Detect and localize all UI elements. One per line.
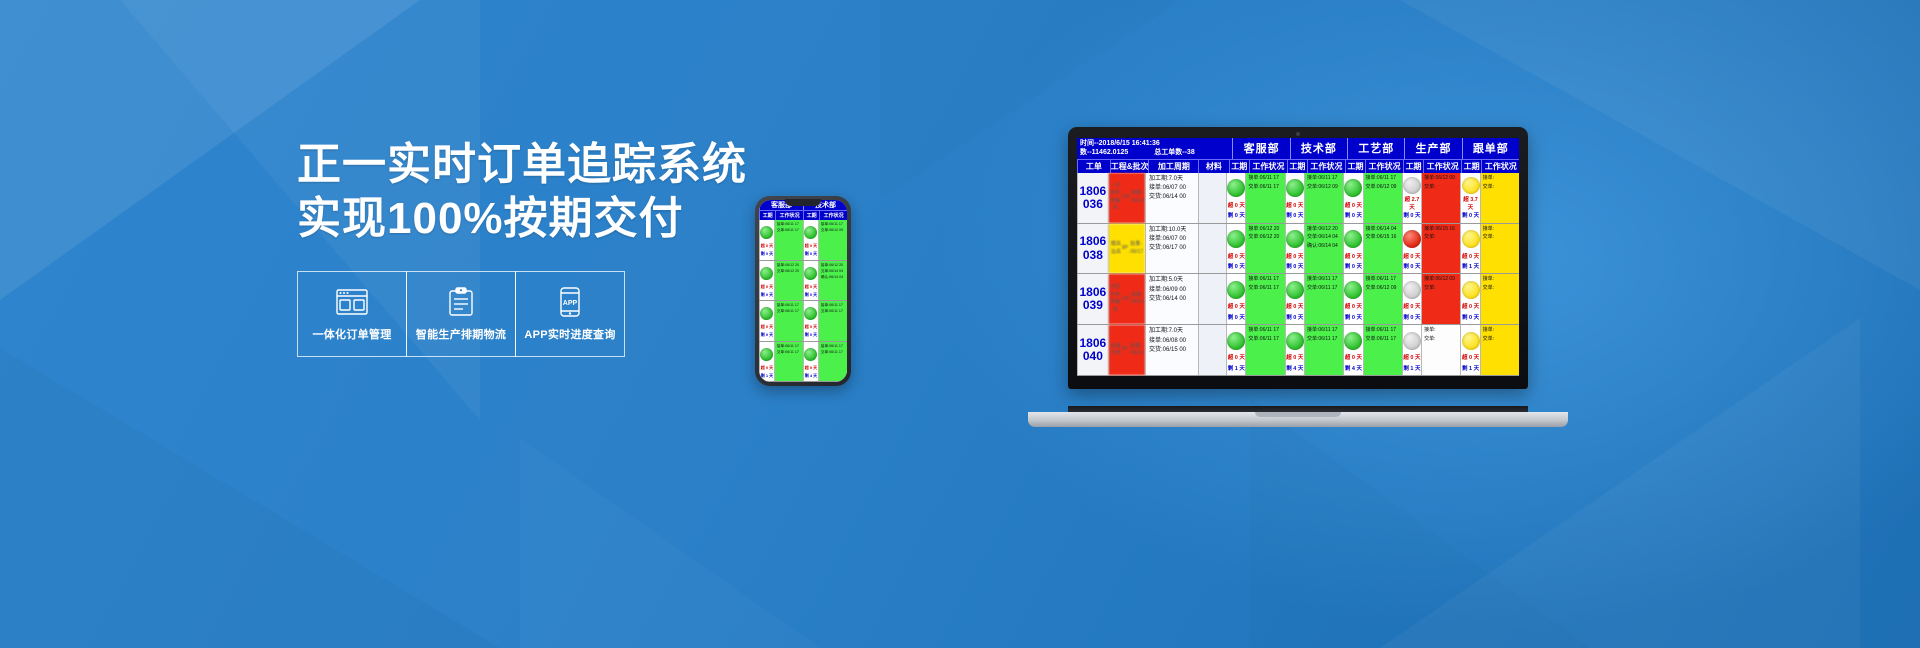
laptop-base <box>1028 412 1568 427</box>
cell-客服部-work-status[interactable]: 接单:06/11 17交单:06/11 17 <box>1245 274 1284 324</box>
phone-erp-board[interactable]: 客服部技术部工期工作状况工期工作状况超 0 天剩 0 天接单:06/11 17交… <box>759 200 847 382</box>
cell-客服部-duration[interactable]: 超 0 天剩 0 天 <box>1226 173 1245 223</box>
cell-技术部-duration[interactable]: 超 0 天剩 0 天 <box>1285 274 1304 324</box>
cell-material[interactable] <box>1198 274 1226 324</box>
hero-headline-line1: 正一实时订单追踪系统 <box>297 138 917 192</box>
over-days-label: 超 2.7 天 <box>1403 196 1421 213</box>
status-dot-green[interactable] <box>804 226 817 239</box>
board-meta: 时间--2018/6/15 16:41:36数--11462.0125总工单数-… <box>1077 138 1232 159</box>
status-dot-green[interactable] <box>1227 332 1245 350</box>
cell-material[interactable] <box>1198 224 1226 274</box>
cell-工艺部-duration[interactable]: 超 0 天剩 0 天 <box>1343 224 1362 274</box>
status-dot-yellow[interactable] <box>1462 281 1480 299</box>
column-header-工艺部-工作状况[interactable]: 工作状况 <box>1365 160 1403 173</box>
over-days-label: 超 0 天 <box>760 243 774 249</box>
over-days-label: 超 0 天 <box>1344 354 1362 362</box>
cell-工艺部-work-status[interactable]: 接单:06/11 17交单:06/12 09 <box>1363 274 1402 324</box>
cell-processing-cycle[interactable]: 加工期:10.0天接单:06/07 00交货:06/17 00 <box>1145 224 1198 274</box>
over-days-label: 超 0 天 <box>1344 303 1362 311</box>
over-days-label: 超 0 天 <box>1286 253 1304 261</box>
over-days-label: 超 0 天 <box>1286 202 1304 210</box>
cell-project-batch[interactable]: 一字板外壳备料12P批量--06/14 <box>1108 173 1145 223</box>
board-meta-datetime: 时间--2018/6/15 16:41:36 <box>1080 139 1229 148</box>
status-dot-yellow[interactable] <box>1462 230 1480 248</box>
status-dot-green[interactable] <box>1227 179 1245 197</box>
cell-生产部-duration[interactable]: 超 0 天剩 0 天 <box>1402 224 1421 274</box>
work-order-bottom: 038 <box>1083 249 1103 262</box>
over-days-label: 超 0 天 <box>1461 303 1479 311</box>
column-header-客服部-工作状况[interactable]: 工作状况 <box>775 211 803 220</box>
cell-客服部-work-status[interactable]: 接单:06/12 20交单:06/12 20 <box>1245 224 1284 274</box>
remaining-days-label: 剩 0 天 <box>1461 212 1479 220</box>
cell-生产部-duration[interactable]: 超 2.7 天剩 0 天 <box>1402 173 1421 223</box>
work-order-bottom: 039 <box>1083 299 1103 312</box>
over-days-label: 超 0 天 <box>760 324 774 330</box>
bg-polygon <box>0 348 500 648</box>
cell-技术部-work-status[interactable]: 接单:06/11 17交单:06/11 17 <box>1304 325 1343 375</box>
status-dot-grey[interactable] <box>1403 177 1421 194</box>
cell-技术部-work-status[interactable]: 接单:06/11 17交单:06/11 17 <box>818 301 847 341</box>
feature-card-app-progress-query[interactable]: APP APP实时进度查询 <box>515 271 625 357</box>
work-order-bottom: 040 <box>1083 350 1103 363</box>
cell-技术部-work-status[interactable]: 接单:06/11 17交单:06/12 09 <box>1304 173 1343 223</box>
column-header-跟单部-工作状况[interactable]: 工作状况 <box>1481 160 1519 173</box>
status-dot-green[interactable] <box>1344 332 1362 350</box>
cell-processing-cycle[interactable]: 加工期:5.0天接单:06/09 00交货:06/14 00 <box>1145 274 1198 324</box>
status-dot-green[interactable] <box>760 226 773 239</box>
status-dot-green[interactable] <box>1344 230 1362 248</box>
remaining-days-label: 剩 4 天 <box>1286 365 1304 373</box>
over-days-label: 超 0 天 <box>1403 354 1421 362</box>
over-days-label: 超 0 天 <box>1286 303 1304 311</box>
remaining-days-label: 剩 4 天 <box>1344 365 1362 373</box>
cell-客服部-work-status[interactable]: 接单:06/11 17交单:06/11 17 <box>1245 173 1284 223</box>
cell-技术部-work-status[interactable]: 接单:06/12 20交单:06/14 04确认:06/14 04 <box>818 261 847 301</box>
cell-工艺部-duration[interactable]: 超 0 天剩 4 天 <box>1343 325 1362 375</box>
table-row[interactable]: 1806039冲压件外壳备料12P批量--06/14加工期:5.0天接单:06/… <box>1077 274 1519 325</box>
column-header-生产部-工期[interactable]: 工期 <box>1403 160 1424 173</box>
status-dot-green[interactable] <box>1344 179 1362 197</box>
cell-processing-cycle[interactable]: 加工期:7.0天接单:06/08 00交货:06/15 00 <box>1145 325 1198 375</box>
feature-card-order-management[interactable]: 一体化订单管理 <box>297 271 407 357</box>
laptop-mockup: 时间--2018/6/15 16:41:36数--11462.0125总工单数-… <box>1028 127 1568 427</box>
column-header-技术部-工作状况[interactable]: 工作状况 <box>1307 160 1345 173</box>
remaining-days-label: 剩 0 天 <box>760 251 774 257</box>
cell-project-batch[interactable]: 前盖外壳6P批量--06/15 <box>1108 325 1145 375</box>
cell-客服部-work-status[interactable]: 接单:06/12 20交单:06/12 20 <box>774 261 803 301</box>
column-header-材料[interactable]: 材料 <box>1198 160 1228 173</box>
remaining-days-label: 剩 0 天 <box>1227 263 1245 271</box>
cell-生产部-work-status[interactable]: 接单:06/12 09交单: <box>1421 173 1460 223</box>
over-days-label: 超 0 天 <box>1461 253 1479 261</box>
cell-work-order[interactable]: 1806039 <box>1077 274 1108 324</box>
remaining-days-label: 剩 1 天 <box>1403 365 1421 373</box>
over-days-label: 超 0 天 <box>1461 354 1479 362</box>
cell-work-order[interactable]: 1806040 <box>1077 325 1108 375</box>
over-days-label: 超 0 天 <box>1227 303 1245 311</box>
department-header-row: 客服部技术部工艺部生产部跟单部 <box>1232 138 1519 159</box>
svg-text:APP: APP <box>563 300 578 307</box>
remaining-days-label: 剩 0 天 <box>1403 212 1421 220</box>
department-header-技术部[interactable]: 技术部 <box>1290 138 1347 159</box>
column-header-row: 工单工程&批次加工周期材料工期工作状况工期工作状况工期工作状况工期工作状况工期工… <box>1077 159 1519 173</box>
work-order-top: 1806 <box>1080 235 1107 248</box>
department-header-工艺部[interactable]: 工艺部 <box>1347 138 1404 159</box>
over-days-label: 超 0 天 <box>760 284 774 290</box>
column-header-客服部-工期[interactable]: 工期 <box>759 211 775 220</box>
column-header-技术部-工期[interactable]: 工期 <box>1287 160 1308 173</box>
over-days-label: 超 0 天 <box>1344 202 1362 210</box>
work-order-bottom: 036 <box>1083 198 1103 211</box>
cell-客服部-duration[interactable]: 超 0 天剩 0 天 <box>759 301 774 341</box>
cell-跟单部-work-status[interactable]: 接单:交单: <box>1480 173 1519 223</box>
cell-客服部-duration[interactable]: 超 0 天剩 0 天 <box>1226 224 1245 274</box>
cell-工艺部-duration[interactable]: 超 0 天剩 0 天 <box>1343 274 1362 324</box>
status-dot-green[interactable] <box>804 307 817 320</box>
department-header-生产部[interactable]: 生产部 <box>1404 138 1461 159</box>
remaining-days-label: 剩 0 天 <box>1344 314 1362 322</box>
feature-card-production-scheduling[interactable]: 智能生产排期物流 <box>406 271 516 357</box>
board-body: 超 0 天剩 0 天接单:06/11 17交单:06/11 17超 0 天剩 0… <box>759 220 847 382</box>
over-days-label: 超 0 天 <box>760 365 774 371</box>
status-dot-green[interactable] <box>1286 179 1304 197</box>
work-order-top: 1806 <box>1080 185 1107 198</box>
over-days-label: 超 3.7 天 <box>1461 196 1479 213</box>
cell-生产部-duration[interactable]: 超 0 天剩 1 天 <box>1402 325 1421 375</box>
status-dot-yellow[interactable] <box>1462 332 1480 350</box>
mobile-app-icon: APP <box>553 287 587 317</box>
table-row[interactable]: 1806036一字板外壳备料12P批量--06/14加工期:7.0天接单:06/… <box>1077 173 1519 224</box>
over-days-label: 超 0 天 <box>1403 253 1421 261</box>
cell-技术部-duration[interactable]: 超 0 天剩 0 天 <box>1285 224 1304 274</box>
cell-技术部-duration[interactable]: 超 0 天剩 0 天 <box>1285 173 1304 223</box>
remaining-days-label: 剩 1 天 <box>1227 365 1245 373</box>
cell-生产部-duration[interactable]: 超 0 天剩 0 天 <box>1402 274 1421 324</box>
cell-processing-cycle[interactable]: 加工期:7.0天接单:06/07 00交货:06/14 00 <box>1145 173 1198 223</box>
cell-生产部-work-status[interactable]: 接单:06/12 09交单: <box>1421 274 1460 324</box>
status-dot-green[interactable] <box>1286 230 1304 248</box>
column-header-跟单部-工期[interactable]: 工期 <box>1461 160 1482 173</box>
cell-客服部-duration[interactable]: 超 0 天剩 0 天 <box>759 220 774 260</box>
feature-label: 智能生产排期物流 <box>416 326 506 342</box>
cell-技术部-work-status[interactable]: 接单:06/12 20交单:06/14 04确认:06/14 04 <box>1304 224 1343 274</box>
remaining-days-label: 剩 1 天 <box>760 373 774 379</box>
bg-polygon <box>520 438 820 648</box>
table-row[interactable]: 超 0 天剩 1 天接单:06/11 17交单:06/11 17超 0 天剩 4… <box>759 342 847 383</box>
cell-跟单部-duration[interactable]: 超 3.7 天剩 0 天 <box>1460 173 1479 223</box>
webcam-icon <box>1296 132 1300 136</box>
remaining-days-label: 剩 0 天 <box>1286 314 1304 322</box>
status-dot-green[interactable] <box>1227 230 1245 248</box>
column-header-客服部-工期[interactable]: 工期 <box>1229 160 1250 173</box>
cell-客服部-duration[interactable]: 超 0 天剩 0 天 <box>759 261 774 301</box>
status-dot-green[interactable] <box>1286 332 1304 350</box>
status-dot-green[interactable] <box>760 348 773 361</box>
cell-project-batch[interactable]: 模具治具8P批量--06/17 <box>1108 224 1145 274</box>
over-days-label: 超 0 天 <box>1286 354 1304 362</box>
cell-技术部-duration[interactable]: 超 0 天剩 0 天 <box>803 261 818 301</box>
phone-screen: 客服部技术部工期工作状况工期工作状况超 0 天剩 0 天接单:06/11 17交… <box>759 200 847 382</box>
bg-polygon <box>1250 398 1590 648</box>
cell-work-order[interactable]: 1806038 <box>1077 224 1108 274</box>
status-dot-green[interactable] <box>760 267 773 280</box>
over-days-label: 超 0 天 <box>804 243 818 249</box>
status-dot-green[interactable] <box>804 348 817 361</box>
cell-工艺部-work-status[interactable]: 接单:06/14 04交单:06/15 16 <box>1363 224 1402 274</box>
remaining-days-label: 剩 0 天 <box>760 292 774 298</box>
cell-跟单部-duration[interactable]: 超 0 天剩 1 天 <box>1460 224 1479 274</box>
remaining-days-label: 剩 0 天 <box>1403 314 1421 322</box>
board-meta-row: 时间--2018/6/15 16:41:36数--11462.0125总工单数-… <box>1077 138 1519 159</box>
remaining-days-label: 剩 1 天 <box>1461 263 1479 271</box>
cell-客服部-work-status[interactable]: 接单:06/11 17交单:06/11 17 <box>774 342 803 382</box>
clipboard-icon <box>444 287 478 317</box>
status-dot-green[interactable] <box>1286 281 1304 299</box>
over-days-label: 超 0 天 <box>804 324 818 330</box>
cell-material[interactable] <box>1198 325 1226 375</box>
remaining-days-label: 剩 1 天 <box>1461 365 1479 373</box>
remaining-days-label: 剩 0 天 <box>804 251 818 257</box>
over-days-label: 超 0 天 <box>1227 253 1245 261</box>
table-row[interactable]: 超 0 天剩 0 天接单:06/11 17交单:06/11 17超 0 天剩 0… <box>759 220 847 261</box>
table-row[interactable]: 1806038模具治具8P批量--06/17加工期:10.0天接单:06/07 … <box>1077 224 1519 275</box>
cell-客服部-work-status[interactable]: 接单:06/11 17交单:06/11 17 <box>774 301 803 341</box>
cell-生产部-work-status[interactable]: 接单:06/15 16交单: <box>1421 224 1460 274</box>
cell-material[interactable] <box>1198 173 1226 223</box>
status-dot-grey[interactable] <box>1403 281 1421 299</box>
column-header-技术部-工作状况[interactable]: 工作状况 <box>819 211 847 220</box>
cell-跟单部-work-status[interactable]: 接单:交单: <box>1480 325 1519 375</box>
cell-客服部-duration[interactable]: 超 0 天剩 1 天 <box>759 342 774 382</box>
cell-客服部-duration[interactable]: 超 0 天剩 0 天 <box>1226 274 1245 324</box>
over-days-label: 超 0 天 <box>1344 253 1362 261</box>
remaining-days-label: 剩 0 天 <box>760 332 774 338</box>
cell-生产部-work-status[interactable]: 接单:交单: <box>1421 325 1460 375</box>
cell-客服部-duration[interactable]: 超 0 天剩 1 天 <box>1226 325 1245 375</box>
erp-board[interactable]: 时间--2018/6/15 16:41:36数--11462.0125总工单数-… <box>1077 138 1519 376</box>
column-header-工程&批次[interactable]: 工程&批次 <box>1110 160 1149 173</box>
remaining-days-label: 剩 0 天 <box>1344 212 1362 220</box>
column-header-生产部-工作状况[interactable]: 工作状况 <box>1423 160 1461 173</box>
laptop-lid: 时间--2018/6/15 16:41:36数--11462.0125总工单数-… <box>1068 127 1528 389</box>
cell-客服部-work-status[interactable]: 接单:06/11 17交单:06/11 17 <box>774 220 803 260</box>
laptop-screen: 时间--2018/6/15 16:41:36数--11462.0125总工单数-… <box>1077 138 1519 376</box>
cell-工艺部-work-status[interactable]: 接单:06/11 17交单:06/12 09 <box>1363 173 1402 223</box>
status-dot-green[interactable] <box>804 267 817 280</box>
remaining-days-label: 剩 0 天 <box>1286 212 1304 220</box>
remaining-days-label: 剩 0 天 <box>1403 263 1421 271</box>
remaining-days-label: 剩 0 天 <box>1227 314 1245 322</box>
cell-技术部-duration[interactable]: 超 0 天剩 0 天 <box>803 220 818 260</box>
status-dot-green[interactable] <box>760 307 773 320</box>
table-row[interactable]: 超 0 天剩 0 天接单:06/12 20交单:06/12 20超 0 天剩 0… <box>759 261 847 302</box>
phone-notch <box>785 199 821 206</box>
remaining-days-label: 剩 0 天 <box>1344 263 1362 271</box>
table-row[interactable]: 1806040前盖外壳6P批量--06/15加工期:7.0天接单:06/08 0… <box>1077 325 1519 376</box>
phone-body: 客服部技术部工期工作状况工期工作状况超 0 天剩 0 天接单:06/11 17交… <box>755 196 851 386</box>
cell-跟单部-duration[interactable]: 超 0 天剩 1 天 <box>1460 325 1479 375</box>
status-dot-grey[interactable] <box>1403 332 1421 350</box>
over-days-label: 超 0 天 <box>1227 202 1245 210</box>
board-body: 1806036一字板外壳备料12P批量--06/14加工期:7.0天接单:06/… <box>1077 173 1519 376</box>
phone-mockup: 客服部技术部工期工作状况工期工作状况超 0 天剩 0 天接单:06/11 17交… <box>755 196 851 386</box>
feature-label: APP实时进度查询 <box>524 326 615 342</box>
department-header-客服部[interactable]: 客服部 <box>1232 138 1289 159</box>
table-row[interactable]: 超 0 天剩 0 天接单:06/11 17交单:06/11 17超 0 天剩 0… <box>759 301 847 342</box>
over-days-label: 超 0 天 <box>804 284 818 290</box>
cell-技术部-duration[interactable]: 超 0 天剩 0 天 <box>803 301 818 341</box>
remaining-days-label: 剩 0 天 <box>1286 263 1304 271</box>
feature-label: 一体化订单管理 <box>312 326 391 342</box>
remaining-days-label: 剩 0 天 <box>804 292 818 298</box>
status-dot-red[interactable] <box>1403 230 1421 248</box>
column-header-客服部-工作状况[interactable]: 工作状况 <box>1249 160 1287 173</box>
remaining-days-label: 剩 0 天 <box>1227 212 1245 220</box>
remaining-days-label: 剩 0 天 <box>804 332 818 338</box>
cell-技术部-work-status[interactable]: 接单:06/11 17交单:06/12 09 <box>818 220 847 260</box>
cell-跟单部-duration[interactable]: 超 0 天剩 0 天 <box>1460 274 1479 324</box>
cell-跟单部-work-status[interactable]: 接单:交单: <box>1480 224 1519 274</box>
cell-project-batch[interactable]: 冲压件外壳备料12P批量--06/14 <box>1108 274 1145 324</box>
cell-工艺部-work-status[interactable]: 接单:06/11 17交单:06/11 17 <box>1363 325 1402 375</box>
board-meta-counts: 数--11462.0125总工单数--38 <box>1080 148 1229 157</box>
over-days-label: 超 0 天 <box>1403 303 1421 311</box>
cell-跟单部-work-status[interactable]: 接单:交单: <box>1480 274 1519 324</box>
column-header-工艺部-工期[interactable]: 工期 <box>1345 160 1366 173</box>
column-header-row: 工期工作状况工期工作状况 <box>759 210 847 220</box>
remaining-days-label: 剩 0 天 <box>1461 314 1479 322</box>
window-layout-icon <box>335 287 369 317</box>
status-dot-green[interactable] <box>1344 281 1362 299</box>
over-days-label: 超 0 天 <box>1227 354 1245 362</box>
column-header-工单[interactable]: 工单 <box>1077 160 1110 173</box>
department-header-跟单部[interactable]: 跟单部 <box>1462 138 1519 159</box>
cell-技术部-duration[interactable]: 超 0 天剩 4 天 <box>1285 325 1304 375</box>
cell-work-order[interactable]: 1806036 <box>1077 173 1108 223</box>
cell-技术部-work-status[interactable]: 接单:06/11 17交单:06/11 17 <box>818 342 847 382</box>
cell-技术部-duration[interactable]: 超 0 天剩 4 天 <box>803 342 818 382</box>
status-dot-green[interactable] <box>1227 281 1245 299</box>
status-dot-yellow[interactable] <box>1462 177 1480 194</box>
over-days-label: 超 0 天 <box>804 365 818 371</box>
cell-工艺部-duration[interactable]: 超 0 天剩 0 天 <box>1343 173 1362 223</box>
hero-background <box>0 0 1920 648</box>
board-header: 时间--2018/6/15 16:41:36数--11462.0125总工单数-… <box>1077 138 1519 173</box>
cell-技术部-work-status[interactable]: 接单:06/11 17交单:06/11 17 <box>1304 274 1343 324</box>
column-header-加工周期[interactable]: 加工周期 <box>1148 160 1198 173</box>
cell-客服部-work-status[interactable]: 接单:06/11 17交单:06/11 17 <box>1245 325 1284 375</box>
remaining-days-label: 剩 4 天 <box>804 373 818 379</box>
column-header-技术部-工期[interactable]: 工期 <box>803 211 819 220</box>
